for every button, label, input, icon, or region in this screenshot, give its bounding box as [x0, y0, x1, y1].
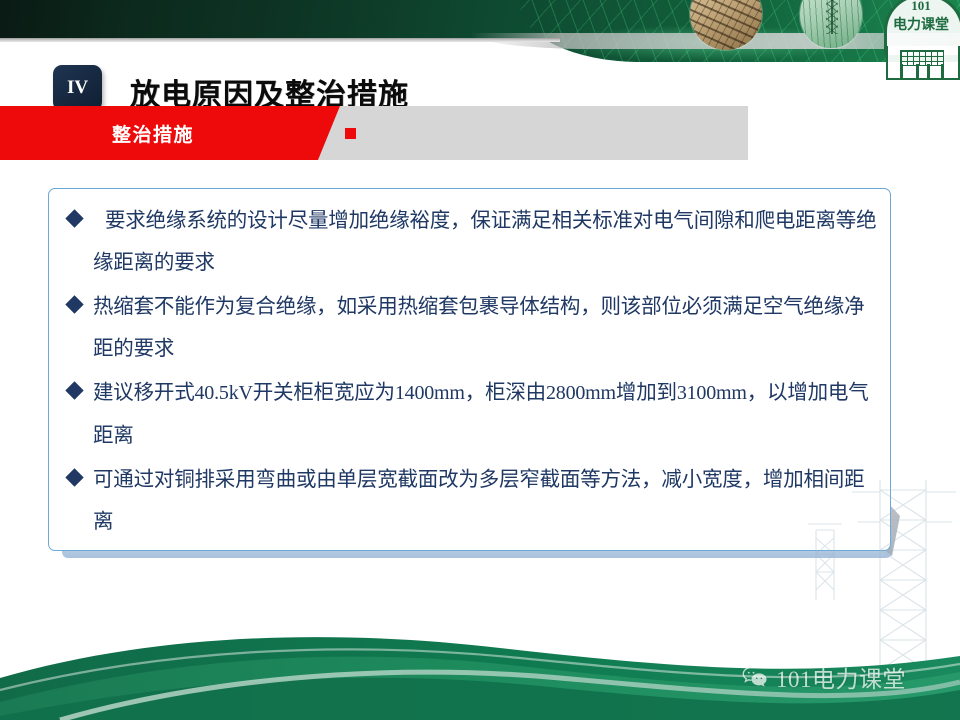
list-item: 要求绝缘系统的设计尽量增加绝缘裕度，保证满足相关标准对电气间隙和爬电距离等绝缘距… [63, 199, 878, 283]
list-item-text: 热缩套不能作为复合绝缘，如采用热缩套包裹导体结构，则该部位必须满足空气绝缘净距的… [93, 294, 864, 360]
diamond-bullet-icon [65, 381, 83, 399]
brand-logo-name: 电力课堂 [884, 14, 958, 34]
bullet-list: 要求绝缘系统的设计尽量增加绝缘裕度，保证满足相关标准对电气间隙和爬电距离等绝缘距… [63, 199, 878, 544]
list-item-text: 可通过对铜排采用弯曲或由单层宽截面改为多层窄截面等方法，减小宽度，增加相间距离 [93, 467, 864, 533]
list-item: 可通过对铜排采用弯曲或由单层宽截面改为多层窄截面等方法，减小宽度，增加相间距离 [63, 458, 878, 542]
section-number-badge: IV [53, 65, 102, 111]
banner-label: 整治措施 [112, 120, 194, 147]
wechat-icon [742, 666, 768, 688]
diamond-bullet-icon [65, 295, 83, 313]
content-box: 要求绝缘系统的设计尽量增加绝缘裕度，保证满足相关标准对电气间隙和爬电距离等绝缘距… [48, 188, 891, 551]
watermark: 101电力课堂 [742, 660, 906, 694]
list-item: 热缩套不能作为复合绝缘，如采用热缩套包裹导体结构，则该部位必须满足空气绝缘净距的… [63, 285, 878, 369]
subsection-banner: 整治措施 [0, 106, 748, 160]
banner-red-square-marker [345, 128, 356, 139]
list-item: 建议移开式40.5kV开关柜柜宽应为1400mm，柜深由2800mm增加到310… [63, 371, 878, 456]
diamond-bullet-icon [65, 209, 83, 227]
pylon-glyph-icon [826, 0, 838, 34]
diamond-bullet-icon [65, 468, 83, 486]
title-row: IV 放电原因及整治措施 [0, 42, 960, 94]
watermark-text: 101电力课堂 [776, 660, 906, 694]
list-item-text: 建议移开式40.5kV开关柜柜宽应为1400mm，柜深由2800mm增加到310… [93, 380, 869, 447]
slide-canvas: 101 电力课堂 IV 放电原因及整治措施 整治措施 要求绝缘系统的设计尽量增加… [0, 0, 960, 720]
list-item-text: 要求绝缘系统的设计尽量增加绝缘裕度，保证满足相关标准对电气间隙和爬电距离等绝缘距… [93, 208, 876, 274]
brand-logo-number: 101 [884, 0, 958, 14]
